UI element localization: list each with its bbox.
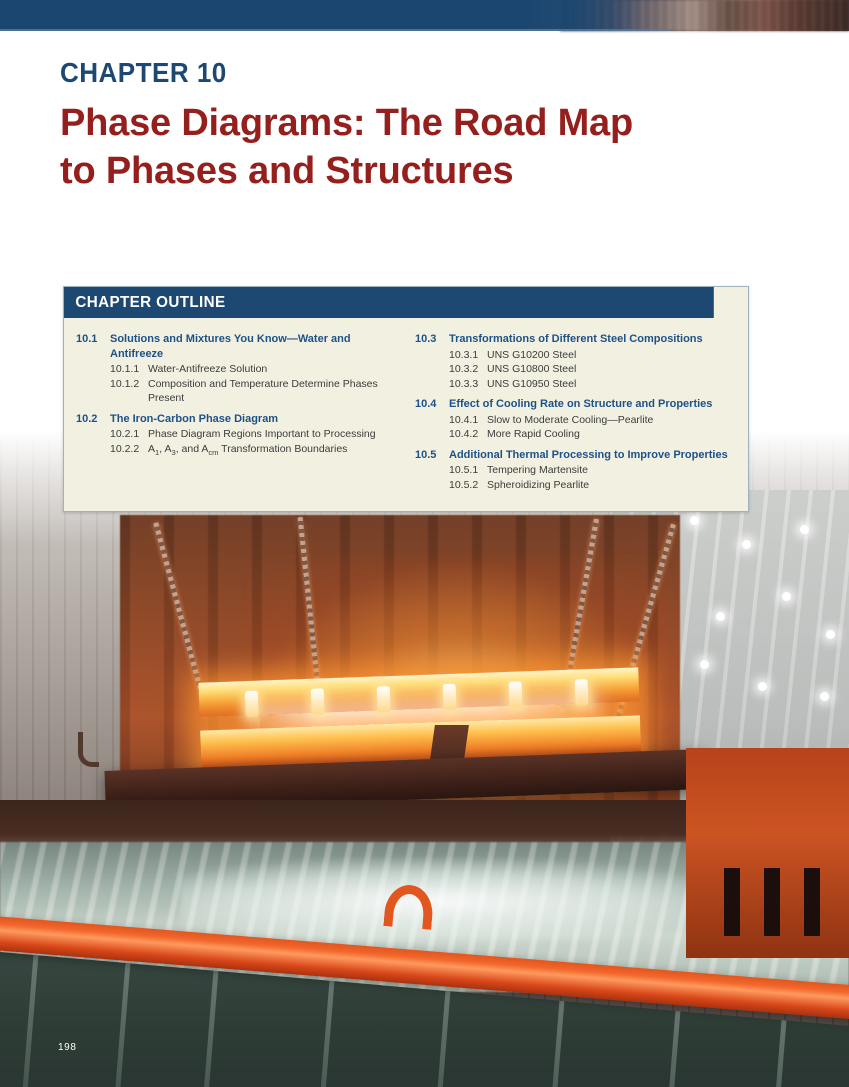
panel-seam (314, 974, 335, 1087)
outline-section-title: Additional Thermal Processing to Improve… (449, 448, 736, 463)
frame-slot (804, 868, 820, 936)
outline-subsection-number: 10.1.2 (110, 377, 148, 406)
ceiling-light-icon (820, 692, 829, 701)
outline-subsection-number: 10.2.1 (110, 427, 148, 442)
outline-subsection-title: Phase Diagram Regions Important to Proce… (148, 427, 397, 442)
outline-section: 10.2The Iron-Carbon Phase Diagram10.2.1P… (76, 412, 397, 461)
billet-fixture (575, 679, 589, 705)
outline-subsection-number: 10.3.2 (449, 362, 487, 377)
outline-subsection-number: 10.4.1 (449, 413, 487, 428)
outline-subsection-number: 10.3.3 (449, 377, 487, 392)
outline-subsection-10.3.1[interactable]: 10.3.1UNS G10200 Steel (415, 348, 736, 363)
ceiling-light-icon (758, 682, 767, 691)
ceiling-light-icon (742, 540, 751, 549)
chapter-outline-body: 10.1Solutions and Mixtures You Know—Wate… (64, 318, 748, 511)
outline-column-right: 10.3Transformations of Different Steel C… (415, 332, 736, 493)
outline-section-number: 10.1 (76, 332, 110, 361)
outline-subsection-title: UNS G10200 Steel (487, 348, 736, 363)
ceiling-light-icon (800, 525, 809, 534)
top-banner-photo-strip (560, 0, 849, 31)
outline-subsection-number: 10.3.1 (449, 348, 487, 363)
ceiling-light-icon (782, 592, 791, 601)
top-banner-edge (0, 29, 670, 31)
billet-fixture (377, 686, 391, 712)
outline-subsection-title: Tempering Martensite (487, 463, 736, 478)
outline-subsection-title: A1, A3, and Acm Transformation Boundarie… (148, 442, 397, 461)
frame-slot (724, 868, 740, 936)
outline-section-10.5[interactable]: 10.5Additional Thermal Processing to Imp… (415, 448, 736, 463)
outline-subsection-number: 10.1.1 (110, 362, 148, 377)
crane-hook (78, 732, 99, 767)
chapter-opening-page: CHAPTER 10 Phase Diagrams: The Road Map … (0, 0, 849, 1087)
outline-subsection-10.5.2[interactable]: 10.5.2Spheroidizing Pearlite (415, 478, 736, 493)
outline-subsection-10.3.3[interactable]: 10.3.3UNS G10950 Steel (415, 377, 736, 392)
outline-section: 10.4Effect of Cooling Rate on Structure … (415, 397, 736, 442)
outline-subsection-number: 10.5.2 (449, 478, 487, 493)
chapter-outline-box: CHAPTER OUTLINE 10.1Solutions and Mixtur… (63, 286, 749, 512)
outline-section-title: The Iron-Carbon Phase Diagram (110, 412, 397, 427)
billet-fixture (245, 691, 259, 717)
outline-subsection-number: 10.2.2 (110, 442, 148, 461)
orange-steel-frame (686, 748, 849, 958)
ceiling-light-icon (690, 516, 699, 525)
outline-subsection-10.2.2[interactable]: 10.2.2A1, A3, and Acm Transformation Bou… (76, 442, 397, 461)
outline-subsection-title: More Rapid Cooling (487, 427, 736, 442)
outline-subsection-title: Slow to Moderate Cooling—Pearlite (487, 413, 736, 428)
chapter-outline-header: CHAPTER OUTLINE (64, 287, 714, 318)
ceiling-light-icon (716, 612, 725, 621)
outline-section-number: 10.5 (415, 448, 449, 463)
outline-section-number: 10.2 (76, 412, 110, 427)
panel-seam (660, 1004, 681, 1087)
page-title: Phase Diagrams: The Road Map to Phases a… (60, 99, 740, 195)
outline-subsection-10.4.1[interactable]: 10.4.1Slow to Moderate Cooling—Pearlite (415, 413, 736, 428)
water-foam (180, 858, 740, 944)
outline-section: 10.1Solutions and Mixtures You Know—Wate… (76, 332, 397, 406)
outline-section-10.4[interactable]: 10.4Effect of Cooling Rate on Structure … (415, 397, 736, 412)
outline-subsection-number: 10.4.2 (449, 427, 487, 442)
outline-subsection-10.4.2[interactable]: 10.4.2More Rapid Cooling (415, 427, 736, 442)
outline-subsection-10.1.1[interactable]: 10.1.1Water-Antifreeze Solution (76, 362, 397, 377)
outline-section-10.3[interactable]: 10.3Transformations of Different Steel C… (415, 332, 736, 347)
page-title-line-2: to Phases and Structures (60, 147, 740, 195)
panel-seam (766, 1014, 787, 1087)
outline-subsection-10.2.1[interactable]: 10.2.1Phase Diagram Regions Important to… (76, 427, 397, 442)
panel-seam (18, 948, 39, 1087)
outline-subsection-title: Composition and Temperature Determine Ph… (148, 377, 397, 406)
outline-section-number: 10.3 (415, 332, 449, 347)
outline-section: 10.3Transformations of Different Steel C… (415, 332, 736, 391)
outline-subsection-title: UNS G10950 Steel (487, 377, 736, 392)
billet-fixture (509, 681, 523, 707)
panel-seam (110, 956, 131, 1087)
panel-seam (430, 984, 451, 1087)
ceiling-light-icon (700, 660, 709, 669)
outline-column-left: 10.1Solutions and Mixtures You Know—Wate… (76, 332, 397, 493)
top-banner (0, 0, 849, 31)
outline-section-title: Transformations of Different Steel Compo… (449, 332, 736, 347)
outline-subsection-number: 10.5.1 (449, 463, 487, 478)
outline-section-title: Effect of Cooling Rate on Structure and … (449, 397, 736, 412)
page-title-line-1: Phase Diagrams: The Road Map (60, 99, 740, 147)
outline-subsection-title: Water-Antifreeze Solution (148, 362, 397, 377)
outline-subsection-10.1.2[interactable]: 10.1.2Composition and Temperature Determ… (76, 377, 397, 406)
billet-fixture (311, 688, 325, 714)
outline-section-number: 10.4 (415, 397, 449, 412)
panel-seam (198, 964, 219, 1087)
chapter-label: CHAPTER 10 (60, 57, 227, 89)
outline-subsection-10.5.1[interactable]: 10.5.1Tempering Martensite (415, 463, 736, 478)
outline-section-title: Solutions and Mixtures You Know—Water an… (110, 332, 397, 361)
outline-section: 10.5Additional Thermal Processing to Imp… (415, 448, 736, 493)
outline-section-10.2[interactable]: 10.2The Iron-Carbon Phase Diagram (76, 412, 397, 427)
outline-section-10.1[interactable]: 10.1Solutions and Mixtures You Know—Wate… (76, 332, 397, 361)
outline-subsection-title: Spheroidizing Pearlite (487, 478, 736, 493)
ceiling-light-icon (826, 630, 835, 639)
billet-fixture (443, 684, 457, 710)
frame-slot (764, 868, 780, 936)
outline-subsection-10.3.2[interactable]: 10.3.2UNS G10800 Steel (415, 362, 736, 377)
panel-seam (544, 994, 565, 1087)
outline-subsection-title: UNS G10800 Steel (487, 362, 736, 377)
page-number: 198 (58, 1042, 77, 1053)
